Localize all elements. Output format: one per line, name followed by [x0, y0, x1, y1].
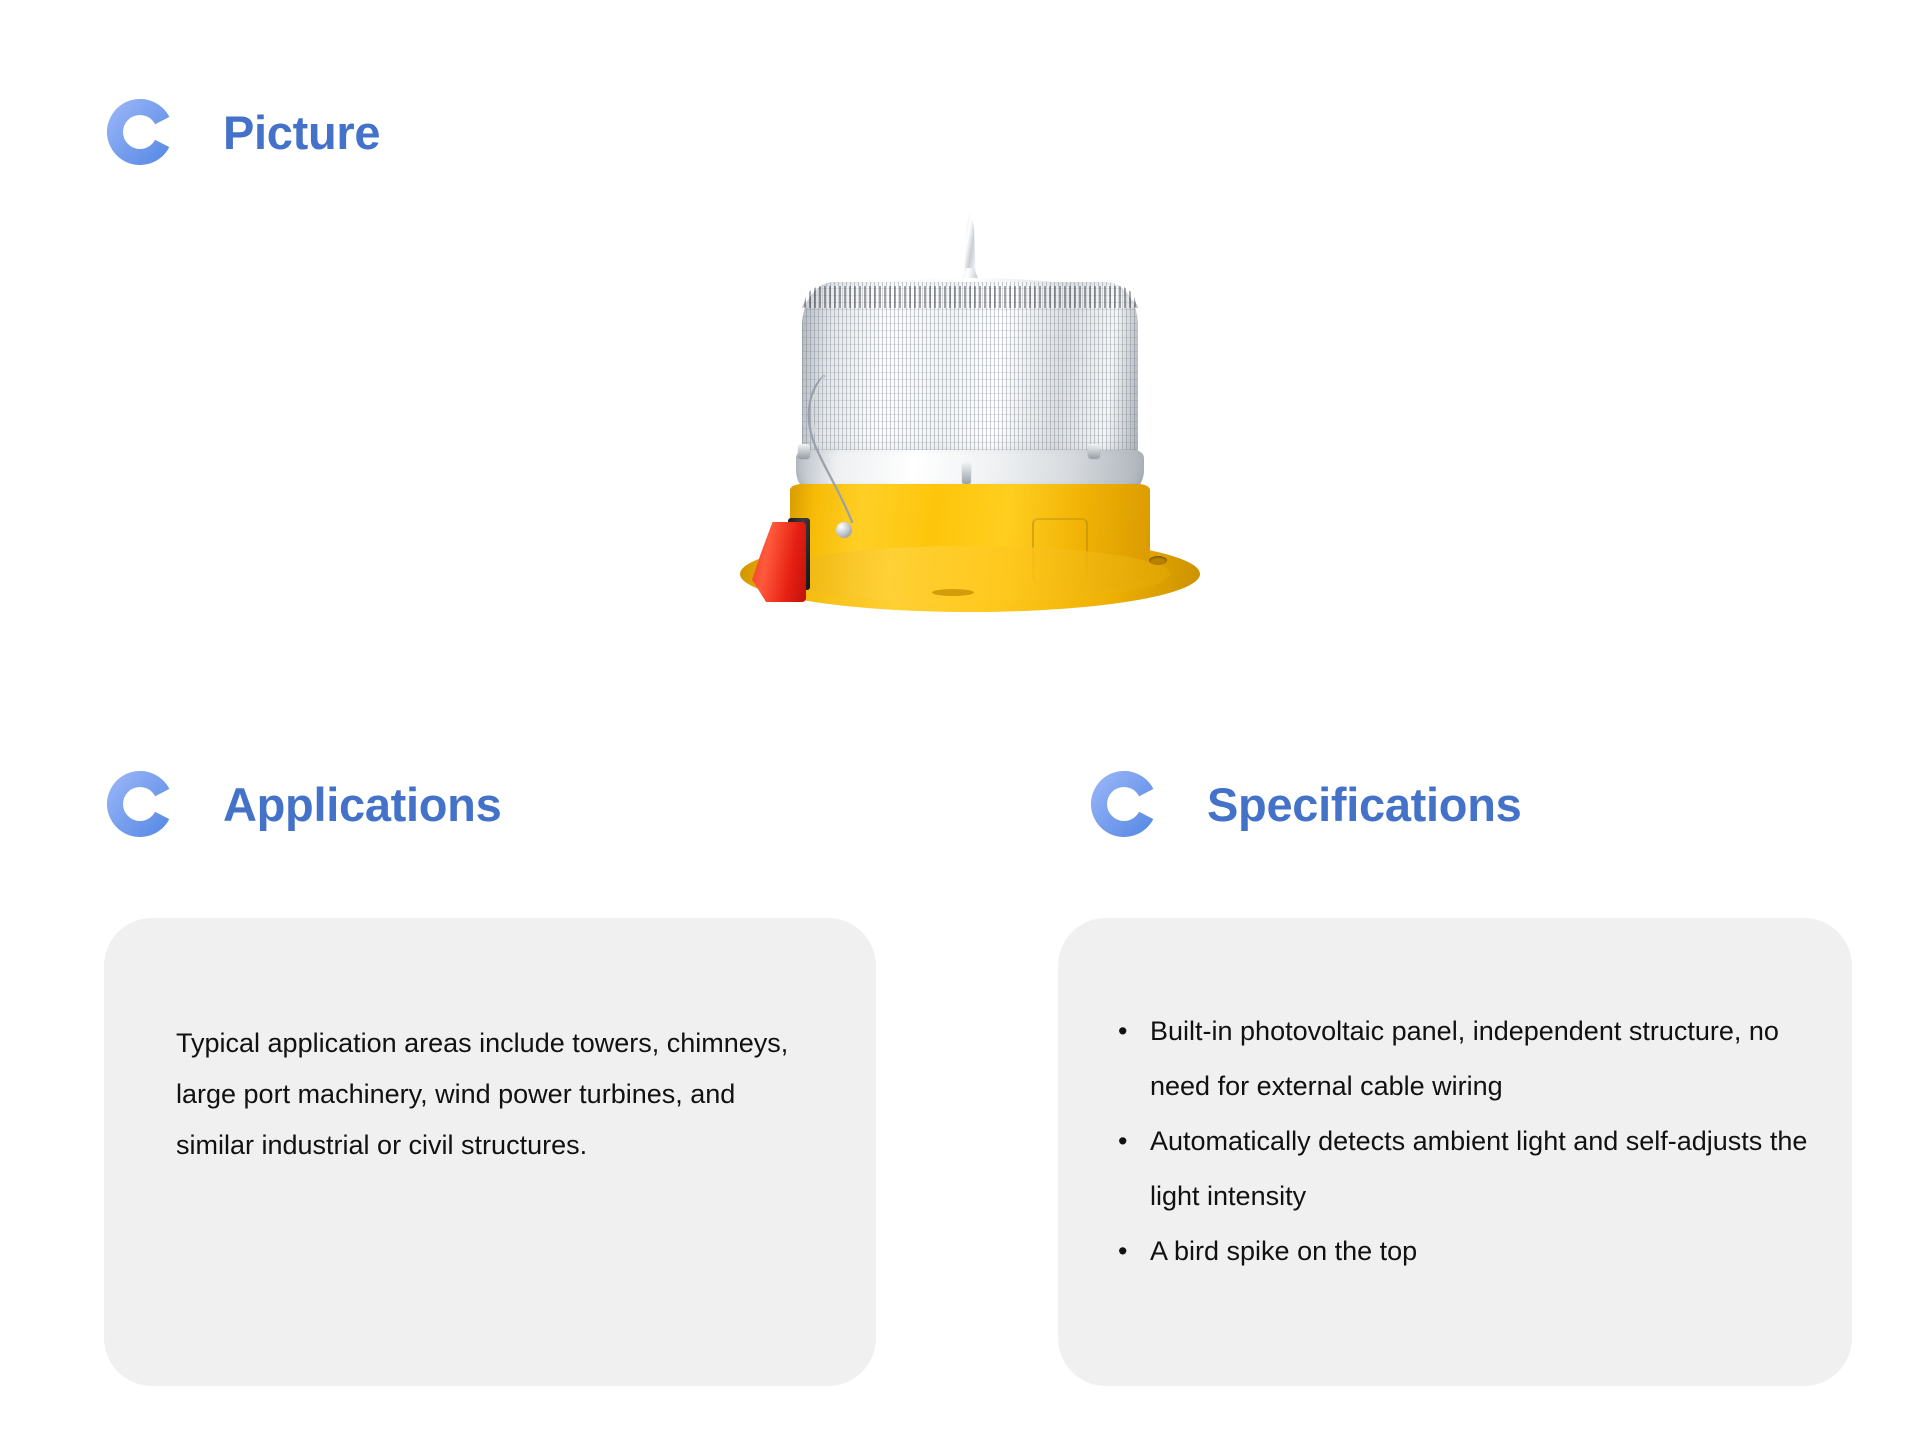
flange-bolt-hole-right [1149, 556, 1167, 565]
red-switch-lever [752, 522, 806, 602]
flange-slot [932, 589, 974, 596]
c-ring-logo-icon [1088, 768, 1160, 840]
rim-screw-middle [962, 462, 971, 484]
applications-card: Typical application areas include towers… [104, 918, 876, 1386]
product-image [740, 200, 1200, 620]
bullet-marker-icon: • [1118, 1004, 1127, 1059]
bullet-marker-icon: • [1118, 1224, 1127, 1279]
bullet-marker-icon: • [1118, 1114, 1127, 1169]
applications-paragraph: Typical application areas include towers… [176, 1018, 818, 1171]
picture-section-heading: Picture [104, 96, 380, 168]
lanyard-cable [800, 370, 892, 530]
list-item-text: A bird spike on the top [1150, 1236, 1417, 1266]
specifications-list: • Built-in photovoltaic panel, independe… [1114, 1004, 1812, 1279]
applications-card-body: Typical application areas include towers… [176, 1018, 818, 1171]
list-item-text: Automatically detects ambient light and … [1150, 1126, 1807, 1211]
applications-section-heading: Applications [104, 768, 501, 840]
specifications-card: • Built-in photovoltaic panel, independe… [1058, 918, 1852, 1386]
list-item: • Automatically detects ambient light an… [1114, 1114, 1812, 1224]
list-item: • Built-in photovoltaic panel, independe… [1114, 1004, 1812, 1114]
specifications-card-body: • Built-in photovoltaic panel, independe… [1114, 1004, 1812, 1279]
slide-page: Picture [0, 0, 1920, 1440]
c-ring-logo-icon [104, 768, 176, 840]
specifications-section-heading: Specifications [1088, 768, 1521, 840]
lanyard-anchor-ball [836, 522, 852, 538]
applications-title: Applications [223, 781, 501, 828]
specifications-title: Specifications [1207, 781, 1521, 828]
page-title: Picture [223, 109, 380, 156]
list-item-text: Built-in photovoltaic panel, independent… [1150, 1016, 1779, 1101]
rim-screw-right [1088, 444, 1100, 458]
list-item: • A bird spike on the top [1114, 1224, 1812, 1279]
obstruction-light-graphic [740, 200, 1200, 620]
lens-louvre-band [804, 286, 1136, 308]
c-ring-logo-icon [104, 96, 176, 168]
